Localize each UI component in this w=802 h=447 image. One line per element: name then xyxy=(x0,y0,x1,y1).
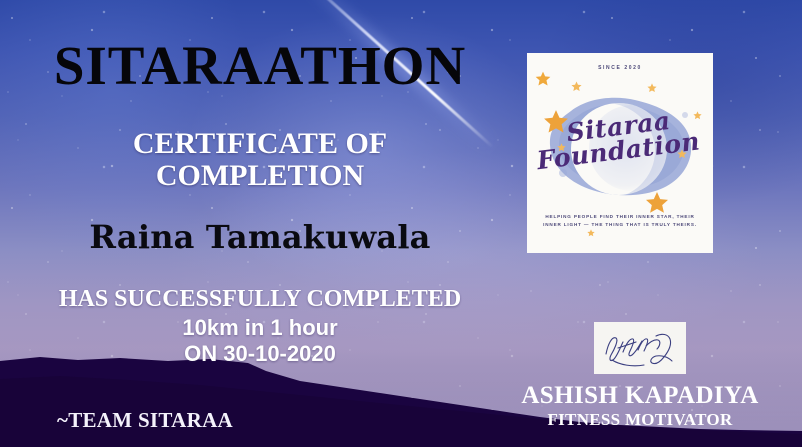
certificate-canvas: SITARAATHON CERTIFICATE OF COMPLETION Ra… xyxy=(0,0,802,447)
certificate-heading-line-2: COMPLETION xyxy=(0,160,520,192)
certificate-heading: CERTIFICATE OF COMPLETION xyxy=(0,128,520,193)
star-icon xyxy=(677,149,687,159)
star-icon xyxy=(647,83,657,93)
signer-name: ASHISH KAPADIYA xyxy=(500,382,780,410)
team-credit: ~TEAM SITARAA xyxy=(20,408,270,433)
logo-tagline: HELPING PEOPLE FIND THEIR INNER STAR, TH… xyxy=(541,213,699,230)
star-icon xyxy=(571,81,582,92)
star-icon xyxy=(557,143,566,152)
handwritten-signature xyxy=(594,322,686,374)
signature-image xyxy=(594,322,686,374)
achievement-text: 10km in 1 hour xyxy=(0,315,520,341)
certificate-heading-line-1: CERTIFICATE OF xyxy=(0,128,520,160)
star-icon xyxy=(645,191,669,215)
sitaraa-foundation-logo: SINCE 2020 Sitaraa Foundation xyxy=(527,53,713,253)
star-icon xyxy=(543,109,569,135)
star-icon xyxy=(693,111,702,120)
date-text: ON 30-10-2020 xyxy=(0,341,520,367)
completion-statement: HAS SUCCESSFULLY COMPLETED xyxy=(0,286,520,313)
logo-since-text: SINCE 2020 xyxy=(527,65,713,71)
star-icon xyxy=(587,229,595,237)
star-icon xyxy=(535,71,551,87)
event-title: SITARAATHON xyxy=(0,38,520,93)
signer-role: FITNESS MOTIVATOR xyxy=(500,410,780,430)
recipient-name: Raina Tamakuwala xyxy=(0,218,520,256)
